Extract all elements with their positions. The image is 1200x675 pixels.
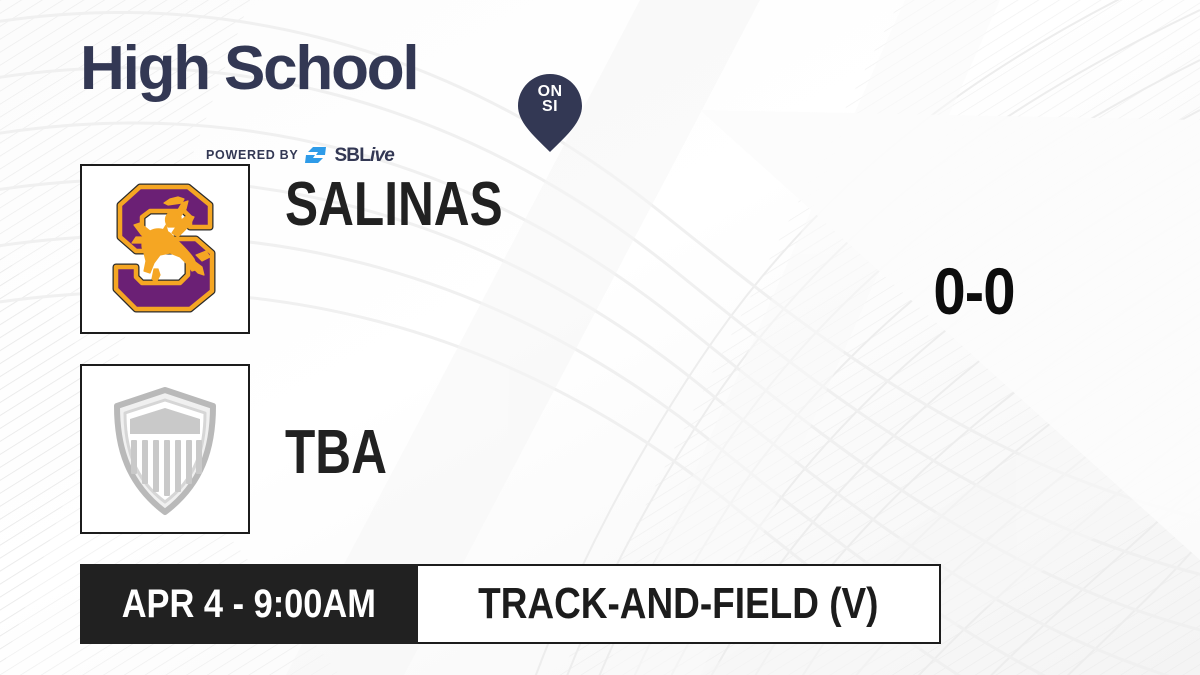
game-sport-text: TRACK-AND-FIELD (V) — [478, 582, 878, 626]
team-logo-box — [80, 164, 250, 334]
pin-line-on: ON — [518, 84, 582, 99]
team-name: TBA — [285, 422, 387, 484]
pin-line-si: SI — [518, 99, 582, 114]
game-datetime: APR 4 - 9:00AM — [80, 564, 418, 644]
game-sport: TRACK-AND-FIELD (V) — [418, 564, 941, 644]
sblive-wordmark: SBLive — [334, 146, 394, 165]
brand-header: High School ON SI POWERED BY SBLive — [80, 36, 510, 136]
powered-by-row: POWERED BY SBLive — [206, 146, 394, 164]
sblive-bolt-icon — [305, 147, 327, 163]
salinas-cowboys-s-logo — [110, 179, 220, 319]
scoreboard-card: High School ON SI POWERED BY SBLive — [0, 0, 1200, 675]
sblive-word-italic: ive — [370, 145, 394, 166]
on-si-pin-icon: ON SI — [518, 74, 582, 152]
team-name: SALINAS — [285, 174, 503, 236]
game-info-bar: APR 4 - 9:00AM TRACK-AND-FIELD (V) — [80, 564, 941, 644]
powered-by-label: POWERED BY — [206, 148, 298, 162]
brand-wordmark: High School — [80, 38, 417, 100]
score-display: 0-0 — [895, 258, 1053, 324]
on-si-pin-label: ON SI — [518, 84, 582, 114]
sblive-word-bold: SBL — [334, 145, 370, 166]
team-logo-box — [80, 364, 250, 534]
game-datetime-text: APR 4 - 9:00AM — [122, 584, 376, 624]
placeholder-shield-icon — [110, 386, 220, 516]
